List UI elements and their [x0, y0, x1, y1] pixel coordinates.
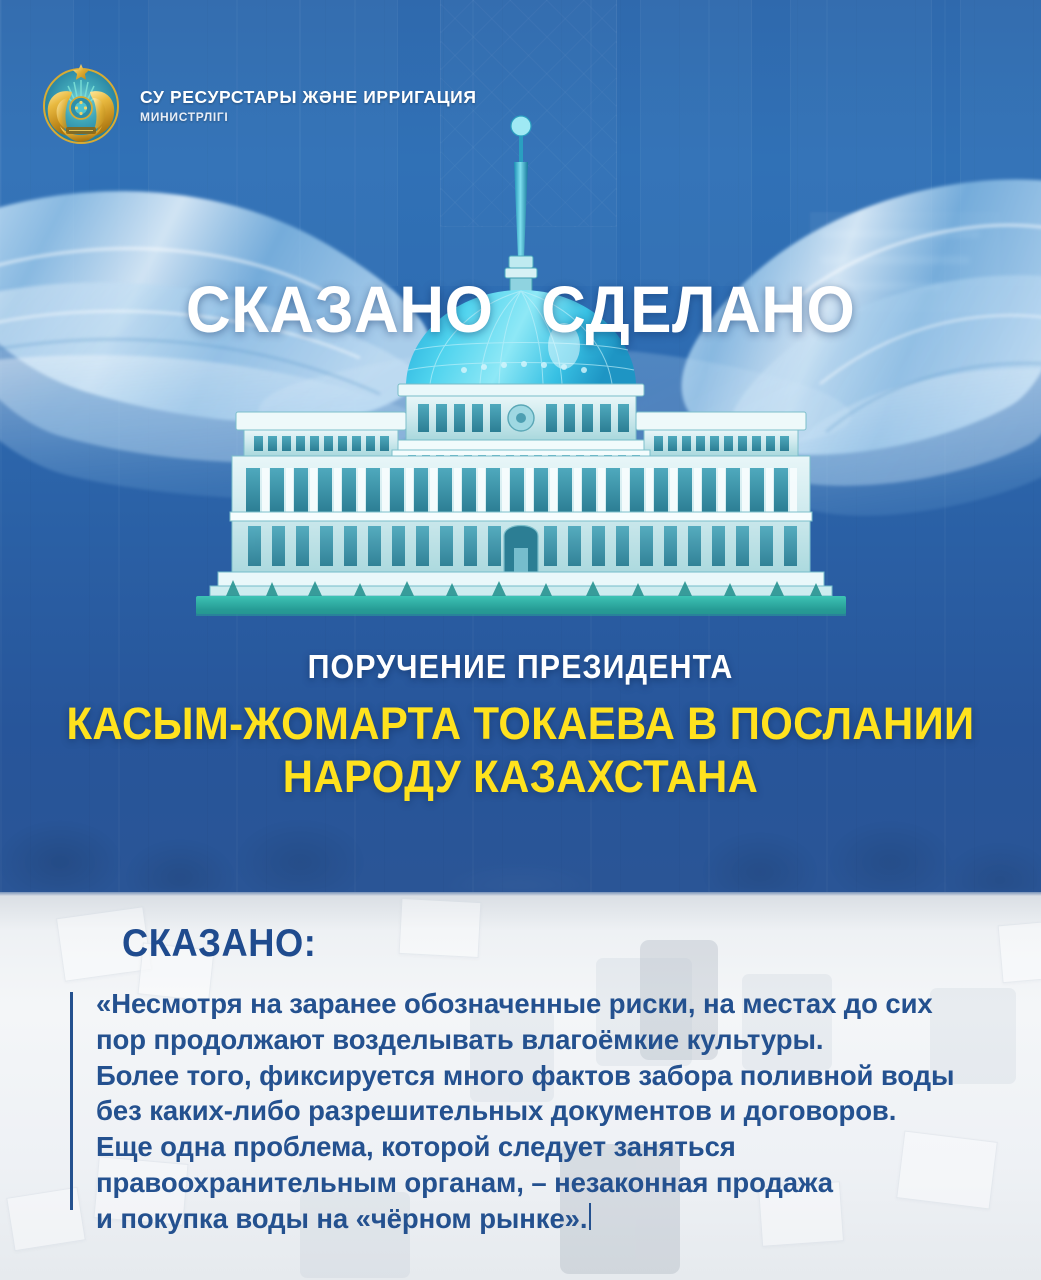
caption-subtitle: ПОРУЧЕНИЕ ПРЕЗИДЕНТА	[42, 648, 1000, 686]
akorda-palace-illustration	[196, 112, 846, 642]
text-caret	[589, 1203, 591, 1229]
headline-done: СДЕЛАНО	[541, 276, 855, 342]
caption-title-line1: КАСЫМ-ЖОМАРТА ТОКАЕВА В ПОСЛАНИИ	[36, 697, 1004, 750]
ministry-name: СУ РЕСУРСТАРЫ ЖӘНЕ ИРРИГАЦИЯ МИНИСТРЛІГІ	[140, 84, 477, 123]
quote-text: «Несмотря на заранее обозначенные риски,…	[96, 986, 1016, 1236]
quote-line-7-wrap: и покупка воды на «чёрном рынке».	[96, 1201, 1016, 1237]
caption-title: КАСЫМ-ЖОМАРТА ТОКАЕВА В ПОСЛАНИИ НАРОДУ …	[36, 697, 1004, 803]
quote-line-3: Более того, фиксируется много фактов заб…	[96, 1058, 1016, 1094]
caption-title-line2: НАРОДУ КАЗАХСТАНА	[36, 750, 1004, 803]
headline-row: СКАЗАНО СДЕЛАНО	[0, 276, 1041, 342]
quote-line-5: Еще одна проблема, которой следует занят…	[96, 1129, 1016, 1165]
hero-section: СУ РЕСУРСТАРЫ ЖӘНЕ ИРРИГАЦИЯ МИНИСТРЛІГІ…	[0, 0, 1041, 892]
quote-line-6: правоохранительным органам, – незаконная…	[96, 1165, 1016, 1201]
ministry-name-line1: СУ РЕСУРСТАРЫ ЖӘНЕ ИРРИГАЦИЯ	[140, 88, 477, 106]
quote-line-1: «Несмотря на заранее обозначенные риски,…	[96, 986, 1016, 1022]
ministry-branding: СУ РЕСУРСТАРЫ ЖӘНЕ ИРРИГАЦИЯ МИНИСТРЛІГІ	[38, 58, 477, 150]
ministry-name-line2: МИНИСТРЛІГІ	[140, 110, 477, 124]
headline-said: СКАЗАНО	[186, 276, 493, 342]
said-heading: СКАЗАНО:	[122, 922, 316, 966]
quote-section: СКАЗАНО: «Несмотря на заранее обозначенн…	[0, 892, 1041, 1280]
caption-block: ПОРУЧЕНИЕ ПРЕЗИДЕНТА КАСЫМ-ЖОМАРТА ТОКАЕ…	[0, 648, 1041, 803]
quote-accent-bar	[70, 992, 73, 1210]
quote-line-4: без каких-либо разрешительных документов…	[96, 1093, 1016, 1129]
quote-line-7: и покупка воды на «чёрном рынке».	[96, 1203, 587, 1234]
quote-line-2: пор продолжают возделывать влагоёмкие ку…	[96, 1022, 1016, 1058]
kazakhstan-coat-of-arms-icon	[38, 58, 124, 150]
infographic-poster: СУ РЕСУРСТАРЫ ЖӘНЕ ИРРИГАЦИЯ МИНИСТРЛІГІ…	[0, 0, 1041, 1280]
